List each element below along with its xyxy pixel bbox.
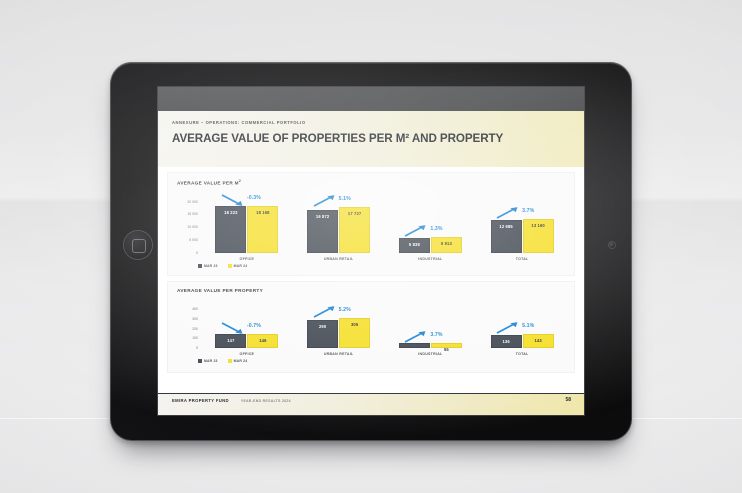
- bar-current: 143: [523, 334, 554, 348]
- bar-pair: 5 8385 913: [385, 188, 477, 253]
- category-label: TOTAL: [476, 257, 568, 261]
- footer-divider: [158, 393, 584, 394]
- arrow-up-icon: [313, 305, 337, 319]
- chart-1-bar-groups: 18 22318 168OFFICE-0.3%16 87217 727URBAN…: [201, 188, 568, 262]
- category-label: URBAN RETAIL: [293, 352, 385, 356]
- y-axis-tick: 300: [192, 317, 198, 321]
- category-label: INDUSTRIAL: [385, 352, 477, 356]
- category-label: OFFICE: [201, 257, 293, 261]
- bar-previous: 12 685: [491, 220, 522, 252]
- chart-1-legend: MAR 23MAR 24: [198, 264, 574, 268]
- chart-2-y-axis: 4003002001000: [174, 295, 201, 357]
- delta-annotation: -0.7%: [247, 323, 261, 329]
- chart-1-title: AVERAGE VALUE PER m2: [177, 179, 574, 186]
- bar-current: 146: [247, 334, 278, 348]
- legend-item[interactable]: MAR 24: [228, 264, 248, 268]
- studio-scene: ANNEXURE – OPERATIONS: COMMERCIAL PORTFO…: [0, 0, 742, 493]
- bar-current: 305: [339, 318, 370, 348]
- bar-pair: 147146: [201, 295, 293, 348]
- footer-subtitle: YEAR-END RESULTS 2024: [241, 399, 291, 403]
- arrow-up-icon: [404, 224, 428, 238]
- bar-value-label: 16 872: [316, 214, 329, 219]
- y-axis-tick: 0: [196, 251, 198, 255]
- bar-group: 5 8385 913INDUSTRIAL1.3%: [385, 188, 477, 262]
- delta-annotation: 5.1%: [339, 196, 351, 202]
- bar-value-label: 13 160: [531, 223, 544, 228]
- chart-2-bar-groups: 147146OFFICE-0.7%290305URBAN RETAIL5.2%5…: [201, 295, 568, 357]
- bar-group: 136143TOTAL5.1%: [476, 295, 568, 357]
- bar-value-label: 12 685: [499, 224, 512, 229]
- legend-label: MAR 23: [204, 359, 218, 363]
- bar-previous: 147: [215, 334, 246, 348]
- y-axis-tick: 400: [192, 307, 198, 311]
- bar-pair: 136143: [476, 295, 568, 348]
- legend-swatch-icon: [198, 359, 202, 363]
- y-axis-tick: 15 000: [187, 212, 198, 216]
- bar-group: 5355INDUSTRIAL3.7%: [385, 295, 477, 357]
- delta-annotation: 3.7%: [430, 332, 442, 338]
- chart-1-y-axis: 20 00015 00010 0005 0000: [174, 188, 201, 262]
- bar-current: 5 913: [431, 237, 462, 252]
- y-axis-tick: 0: [196, 346, 198, 350]
- chart-2-plot-area: 4003002001000147146OFFICE-0.7%290305URBA…: [174, 295, 568, 357]
- bar-group: 16 87217 727URBAN RETAIL5.1%: [293, 188, 385, 262]
- bar-current: 18 168: [247, 206, 278, 252]
- legend-item[interactable]: MAR 23: [198, 359, 218, 363]
- arrow-up-icon: [496, 321, 520, 335]
- bar-previous: 16 872: [307, 210, 338, 253]
- bar-pair: 290305: [293, 295, 385, 348]
- bar-value-label: 147: [227, 338, 234, 343]
- y-axis-tick: 200: [192, 327, 198, 331]
- chart-2-title: AVERAGE VALUE PER PROPERTY: [177, 288, 574, 293]
- slide-header: ANNEXURE – OPERATIONS: COMMERCIAL PORTFO…: [158, 111, 584, 167]
- bar-previous: 290: [307, 320, 338, 348]
- home-button[interactable]: [124, 231, 152, 259]
- bar-current: 55: [431, 343, 462, 348]
- category-label: INDUSTRIAL: [385, 257, 477, 261]
- legend-label: MAR 23: [204, 264, 218, 268]
- arrow-up-icon: [404, 330, 428, 344]
- bar-value-label: 5 913: [441, 241, 452, 246]
- bar-previous: 18 223: [215, 206, 246, 252]
- chart-1-title-text: AVERAGE VALUE PER m: [177, 181, 239, 186]
- bar-previous: 136: [491, 335, 522, 348]
- bar-value-label: 5 838: [409, 242, 420, 247]
- chart-2-legend: MAR 23MAR 24: [198, 359, 574, 363]
- y-axis-tick: 20 000: [187, 200, 198, 204]
- chart-2-title-text: AVERAGE VALUE PER PROPERTY: [177, 288, 263, 293]
- slide-footer: EMIRA PROPERTY FUND YEAR-END RESULTS 202…: [158, 393, 584, 415]
- y-axis-tick: 10 000: [187, 225, 198, 229]
- bar-group: 290305URBAN RETAIL5.2%: [293, 295, 385, 357]
- tablet-device: ANNEXURE – OPERATIONS: COMMERCIAL PORTFO…: [110, 62, 632, 441]
- legend-item[interactable]: MAR 24: [228, 359, 248, 363]
- presentation-slide: ANNEXURE – OPERATIONS: COMMERCIAL PORTFO…: [158, 111, 584, 415]
- front-camera-icon: [609, 242, 615, 248]
- chart-panel-value-per-property: AVERAGE VALUE PER PROPERTY 4003002001000…: [167, 281, 575, 373]
- bar-previous: 5 838: [399, 238, 430, 253]
- legend-swatch-icon: [228, 264, 232, 268]
- footer-brand: EMIRA PROPERTY FUND: [172, 398, 229, 403]
- bar-group: 147146OFFICE-0.7%: [201, 295, 293, 357]
- bar-value-label: 290: [319, 324, 326, 329]
- bar-value-label: 305: [351, 322, 358, 327]
- arrow-up-icon: [496, 206, 520, 220]
- arrow-down-icon: [221, 193, 245, 207]
- bar-value-label: 18 168: [256, 210, 269, 215]
- bar-value-label: 55: [444, 347, 449, 352]
- browser-chrome-bar: [158, 87, 584, 111]
- category-label: TOTAL: [476, 352, 568, 356]
- arrow-down-icon: [221, 321, 245, 335]
- category-label: OFFICE: [201, 352, 293, 356]
- bar-current: 13 160: [523, 219, 554, 253]
- legend-item[interactable]: MAR 23: [198, 264, 218, 268]
- bar-value-label: 146: [259, 338, 266, 343]
- bar-group: 18 22318 168OFFICE-0.3%: [201, 188, 293, 262]
- page-title: AVERAGE VALUE OF PROPERTIES PER m² AND P…: [172, 131, 559, 145]
- delta-annotation: 5.2%: [339, 307, 351, 313]
- bar-value-label: 18 223: [224, 210, 237, 215]
- y-axis-tick: 5 000: [189, 238, 198, 242]
- chart-1-plot-area: 20 00015 00010 0005 000018 22318 168OFFI…: [174, 188, 568, 262]
- slide-eyebrow: ANNEXURE – OPERATIONS: COMMERCIAL PORTFO…: [172, 120, 584, 126]
- y-axis-tick: 100: [192, 336, 198, 340]
- category-label: URBAN RETAIL: [293, 257, 385, 261]
- bar-group: 12 68513 160TOTAL3.7%: [476, 188, 568, 262]
- bar-value-label: 136: [502, 339, 509, 344]
- legend-label: MAR 24: [234, 359, 248, 363]
- footer-text-group: EMIRA PROPERTY FUND YEAR-END RESULTS 202…: [172, 398, 291, 403]
- bar-current: 17 727: [339, 207, 370, 252]
- bar-value-label: 17 727: [348, 211, 361, 216]
- bar-pair: 5355: [385, 295, 477, 348]
- slide-body: AVERAGE VALUE PER m2 20 00015 00010 0005…: [158, 167, 584, 393]
- arrow-up-icon: [313, 194, 337, 208]
- delta-annotation: 3.7%: [522, 208, 534, 214]
- legend-swatch-icon: [198, 264, 202, 268]
- delta-annotation: 5.1%: [522, 323, 534, 329]
- legend-swatch-icon: [228, 359, 232, 363]
- chart-1-title-superscript: 2: [239, 179, 241, 183]
- chart-panel-value-per-sqm: AVERAGE VALUE PER m2 20 00015 00010 0005…: [167, 172, 575, 276]
- delta-annotation: 1.3%: [430, 226, 442, 232]
- page-number: 58: [565, 397, 571, 403]
- legend-label: MAR 24: [234, 264, 248, 268]
- bar-value-label: 143: [534, 338, 541, 343]
- tablet-screen: ANNEXURE – OPERATIONS: COMMERCIAL PORTFO…: [158, 87, 584, 415]
- bar-pair: 12 68513 160: [476, 188, 568, 253]
- delta-annotation: -0.3%: [247, 195, 261, 201]
